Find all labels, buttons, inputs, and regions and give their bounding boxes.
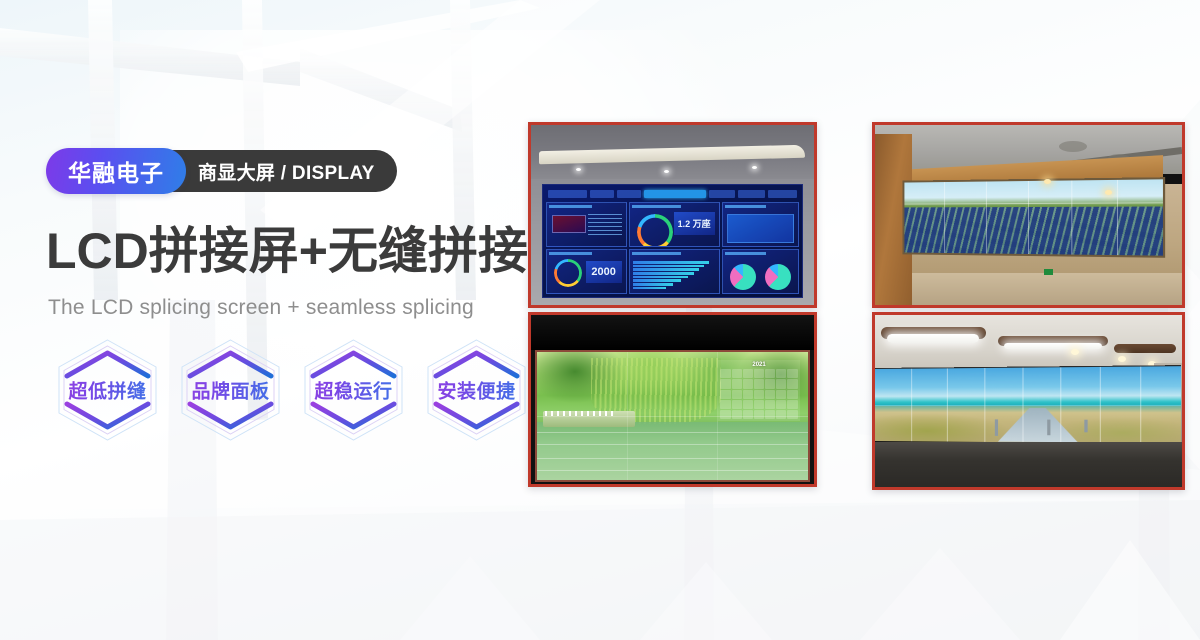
- p2-ceiling-vent: [1059, 141, 1087, 152]
- p4-lcd-screen: [875, 365, 1181, 446]
- p1-card-flow: [722, 202, 798, 247]
- p4-rope-post: [1084, 420, 1087, 432]
- feature-badge-list: 超低拼缝 品牌面板 超稳运行: [48, 334, 536, 446]
- willow-lake-video-wall-photo: 2021: [528, 312, 817, 487]
- feature-badge: 品牌面板: [171, 334, 290, 446]
- p3-lcd-screen: 2021: [537, 352, 808, 480]
- p4-ceiling-slab: [1114, 344, 1175, 353]
- product-banner: 华融电子 商显大屏 / DISPLAY LCD拼接屏+无缝拼接 The LCD …: [0, 0, 1200, 640]
- badge-row: 华融电子 商显大屏 / DISPLAY: [46, 148, 397, 194]
- feature-badge: 超稳运行: [294, 334, 413, 446]
- p1-lcd-screen: 1.2 万座 2000: [542, 184, 802, 297]
- p2-exit-sign: [1044, 269, 1053, 275]
- feature-badge: 超低拼缝: [48, 334, 167, 446]
- p4-rope-post: [995, 420, 998, 436]
- p1-ceiling-spot: [664, 170, 669, 173]
- p2-downlight: [1105, 190, 1112, 195]
- p3-calendar-overlay: 2021: [718, 360, 799, 421]
- feature-badge: 安装便捷: [417, 334, 536, 446]
- p1-counter-metric: 2000: [586, 261, 622, 283]
- p1-card-donut: 1.2 万座: [629, 202, 721, 247]
- p1-card-bars: [629, 249, 721, 294]
- p1-donut-metric: 1.2 万座: [674, 212, 715, 234]
- corridor-solar-video-wall-photo: [872, 122, 1185, 308]
- p1-card-pies: [722, 249, 798, 294]
- brand-badge: 华融电子: [46, 148, 186, 194]
- feature-label: 品牌面板: [171, 377, 290, 404]
- p3-screen-frame: 2021: [535, 350, 810, 482]
- p2-downlight: [1044, 179, 1051, 184]
- p1-card-counter: 2000: [546, 249, 626, 294]
- p4-rope-post: [1047, 420, 1050, 435]
- p4-downlight: [1118, 356, 1126, 362]
- dashboard-video-wall-photo: 1.2 万座 2000: [528, 122, 817, 308]
- p3-lake-water: [537, 422, 808, 481]
- page-title: LCD拼接屏+无缝拼接: [46, 226, 528, 276]
- p3-calendar-grid: [720, 369, 797, 419]
- p1-dashboard-grid: 1.2 万座 2000: [546, 202, 798, 294]
- p2-lcd-screen: [903, 177, 1166, 258]
- feature-label: 超低拼缝: [48, 377, 167, 404]
- page-subtitle: The LCD splicing screen + seamless splic…: [48, 296, 474, 320]
- p3-top-bezel: [531, 315, 814, 350]
- feature-label: 超稳运行: [294, 377, 413, 404]
- p4-floor: [875, 442, 1182, 487]
- p1-card: [546, 202, 626, 247]
- p4-light-panel: [1004, 343, 1102, 350]
- p1-dashboard-topbar: [546, 188, 798, 200]
- p4-light-panel: [887, 334, 979, 343]
- p2-floor: [875, 273, 1182, 305]
- p3-calendar-title: 2021: [720, 362, 797, 368]
- left-content-column: 华融电子 商显大屏 / DISPLAY LCD拼接屏+无缝拼接 The LCD …: [46, 0, 546, 640]
- feature-label: 安装便捷: [417, 377, 536, 404]
- lobby-beach-video-wall-photo: [872, 312, 1185, 490]
